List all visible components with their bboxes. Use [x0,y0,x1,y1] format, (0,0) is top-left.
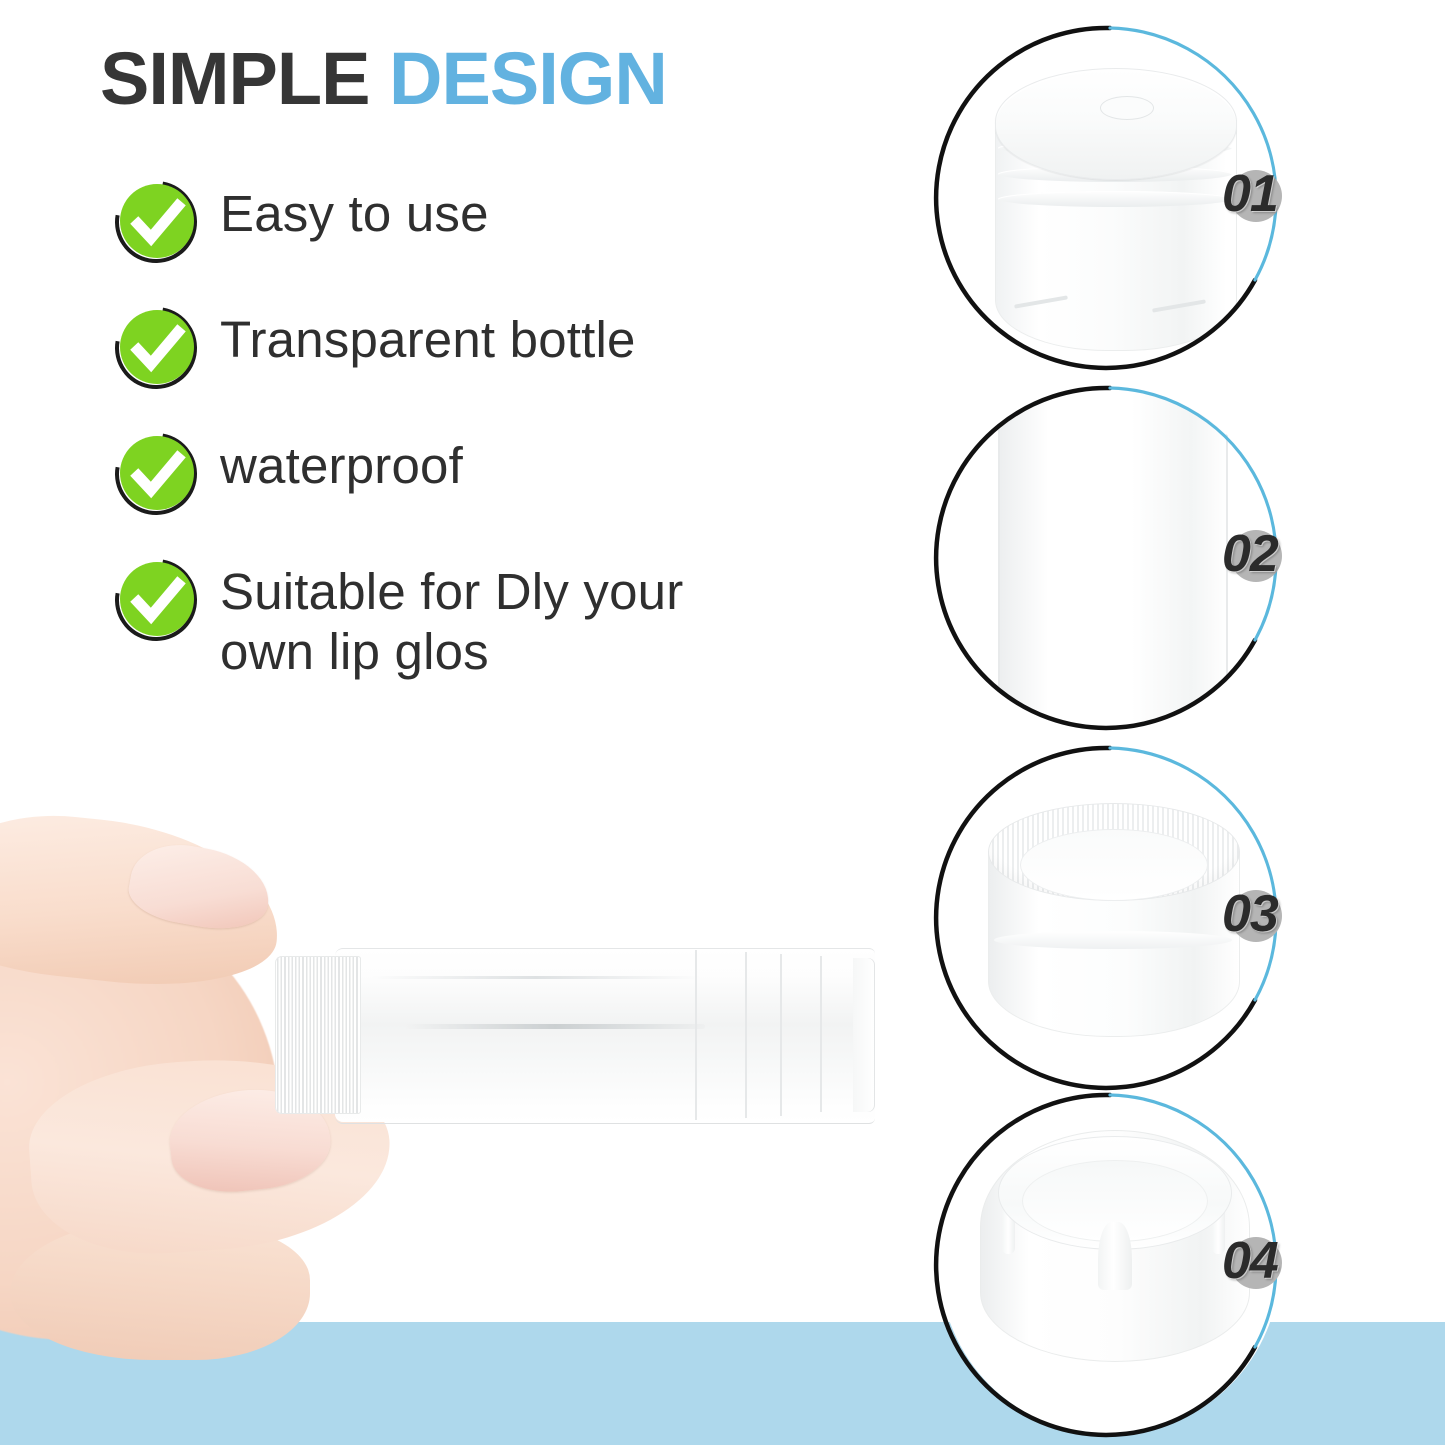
list-item: Easy to use [118,182,818,262]
detail-callout-04: 04 [930,1085,1290,1445]
feature-list: Easy to use Transparent bottle waterproo… [118,182,818,681]
detail-callout-02: 02 [930,378,1290,738]
green-check-icon [118,436,196,514]
list-item: Transparent bottle [118,308,818,388]
green-check-icon [118,184,196,262]
detail-callout-01: 01 [930,18,1290,378]
list-item-label: waterproof [220,434,463,496]
product-photo [0,790,880,1370]
page-title: SIMPLE DESIGN [100,42,667,116]
lip-balm-tube [275,940,875,1130]
list-item-label: Suitable for Dly your own lip glos [220,560,720,681]
green-check-icon [118,310,196,388]
callout-number-04: 04 [1222,1235,1278,1287]
callout-number-03: 03 [1222,888,1278,940]
tube-ribbed-cap [275,956,361,1114]
list-item-label: Easy to use [220,182,489,244]
detail-callout-03: 03 [930,738,1290,1098]
infographic-canvas: SIMPLE DESIGN Easy to use Transparent bo… [0,0,1445,1445]
page-title-dark: SIMPLE [100,37,369,120]
callout-number-02: 02 [1222,528,1278,580]
page-title-blue: DESIGN [369,37,666,120]
list-item: Suitable for Dly your own lip glos [118,560,818,681]
callout-number-01: 01 [1222,168,1278,220]
list-item-label: Transparent bottle [220,308,636,370]
list-item: waterproof [118,434,818,514]
green-check-icon [118,562,196,640]
